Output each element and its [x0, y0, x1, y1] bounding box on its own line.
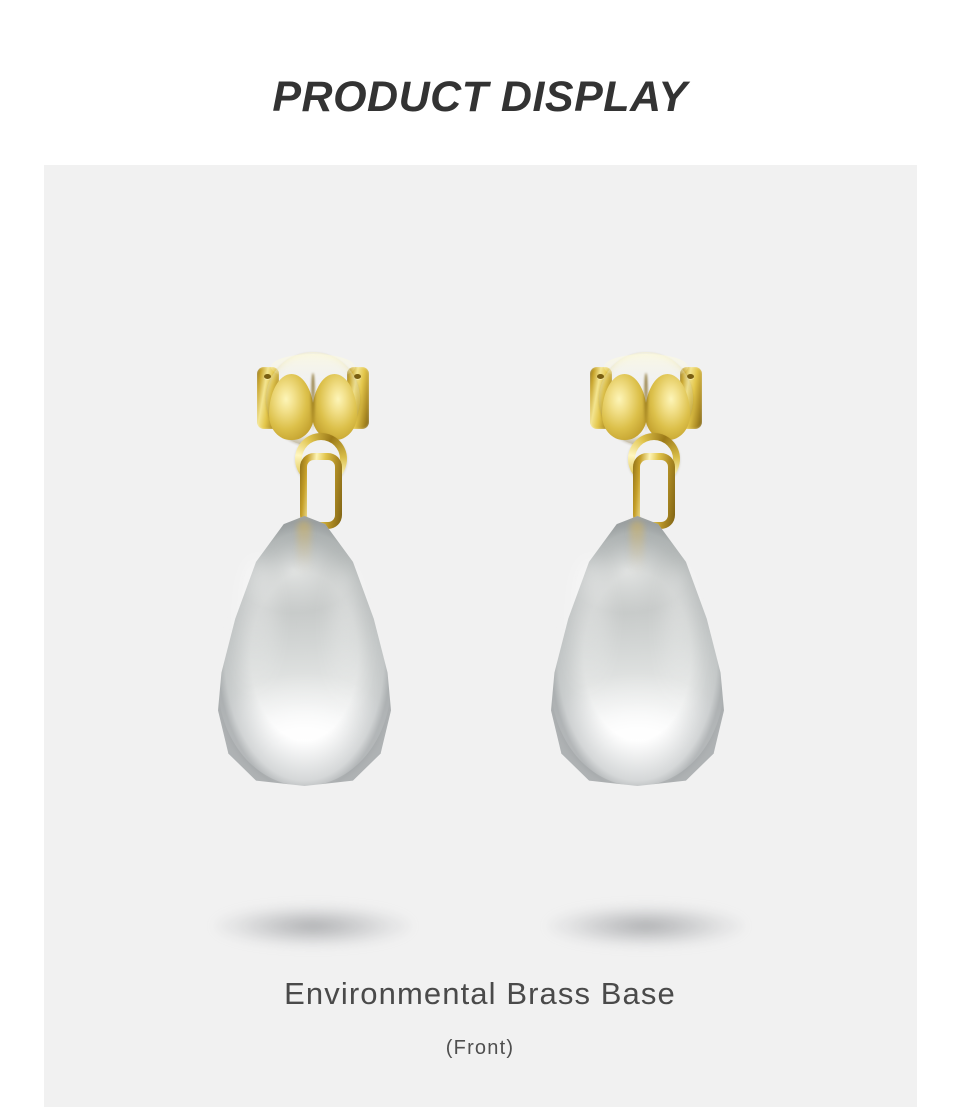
ear-nut-lobe-left — [269, 374, 314, 440]
ear-nut-seam — [311, 373, 315, 431]
earring-right — [536, 165, 756, 965]
drop-shadow-right — [548, 905, 744, 947]
teardrop-stone-right — [551, 516, 724, 786]
ear-nut-ball-left — [266, 352, 360, 446]
product-photo-panel — [44, 165, 917, 1107]
ear-nut-ball-right — [599, 352, 693, 446]
caption-primary: Environmental Brass Base — [0, 978, 960, 1009]
teardrop-stone-left — [218, 516, 391, 786]
drop-shadow-left — [215, 905, 411, 947]
ear-nut-lobe-right — [645, 374, 690, 440]
page-title: PRODUCT DISPLAY — [0, 76, 960, 119]
ear-nut-lobe-left — [602, 374, 647, 440]
earring-left — [203, 165, 423, 965]
ear-nut-lobe-right — [312, 374, 357, 440]
caption-secondary: (Front) — [0, 1038, 960, 1058]
ear-nut-seam — [644, 373, 648, 431]
